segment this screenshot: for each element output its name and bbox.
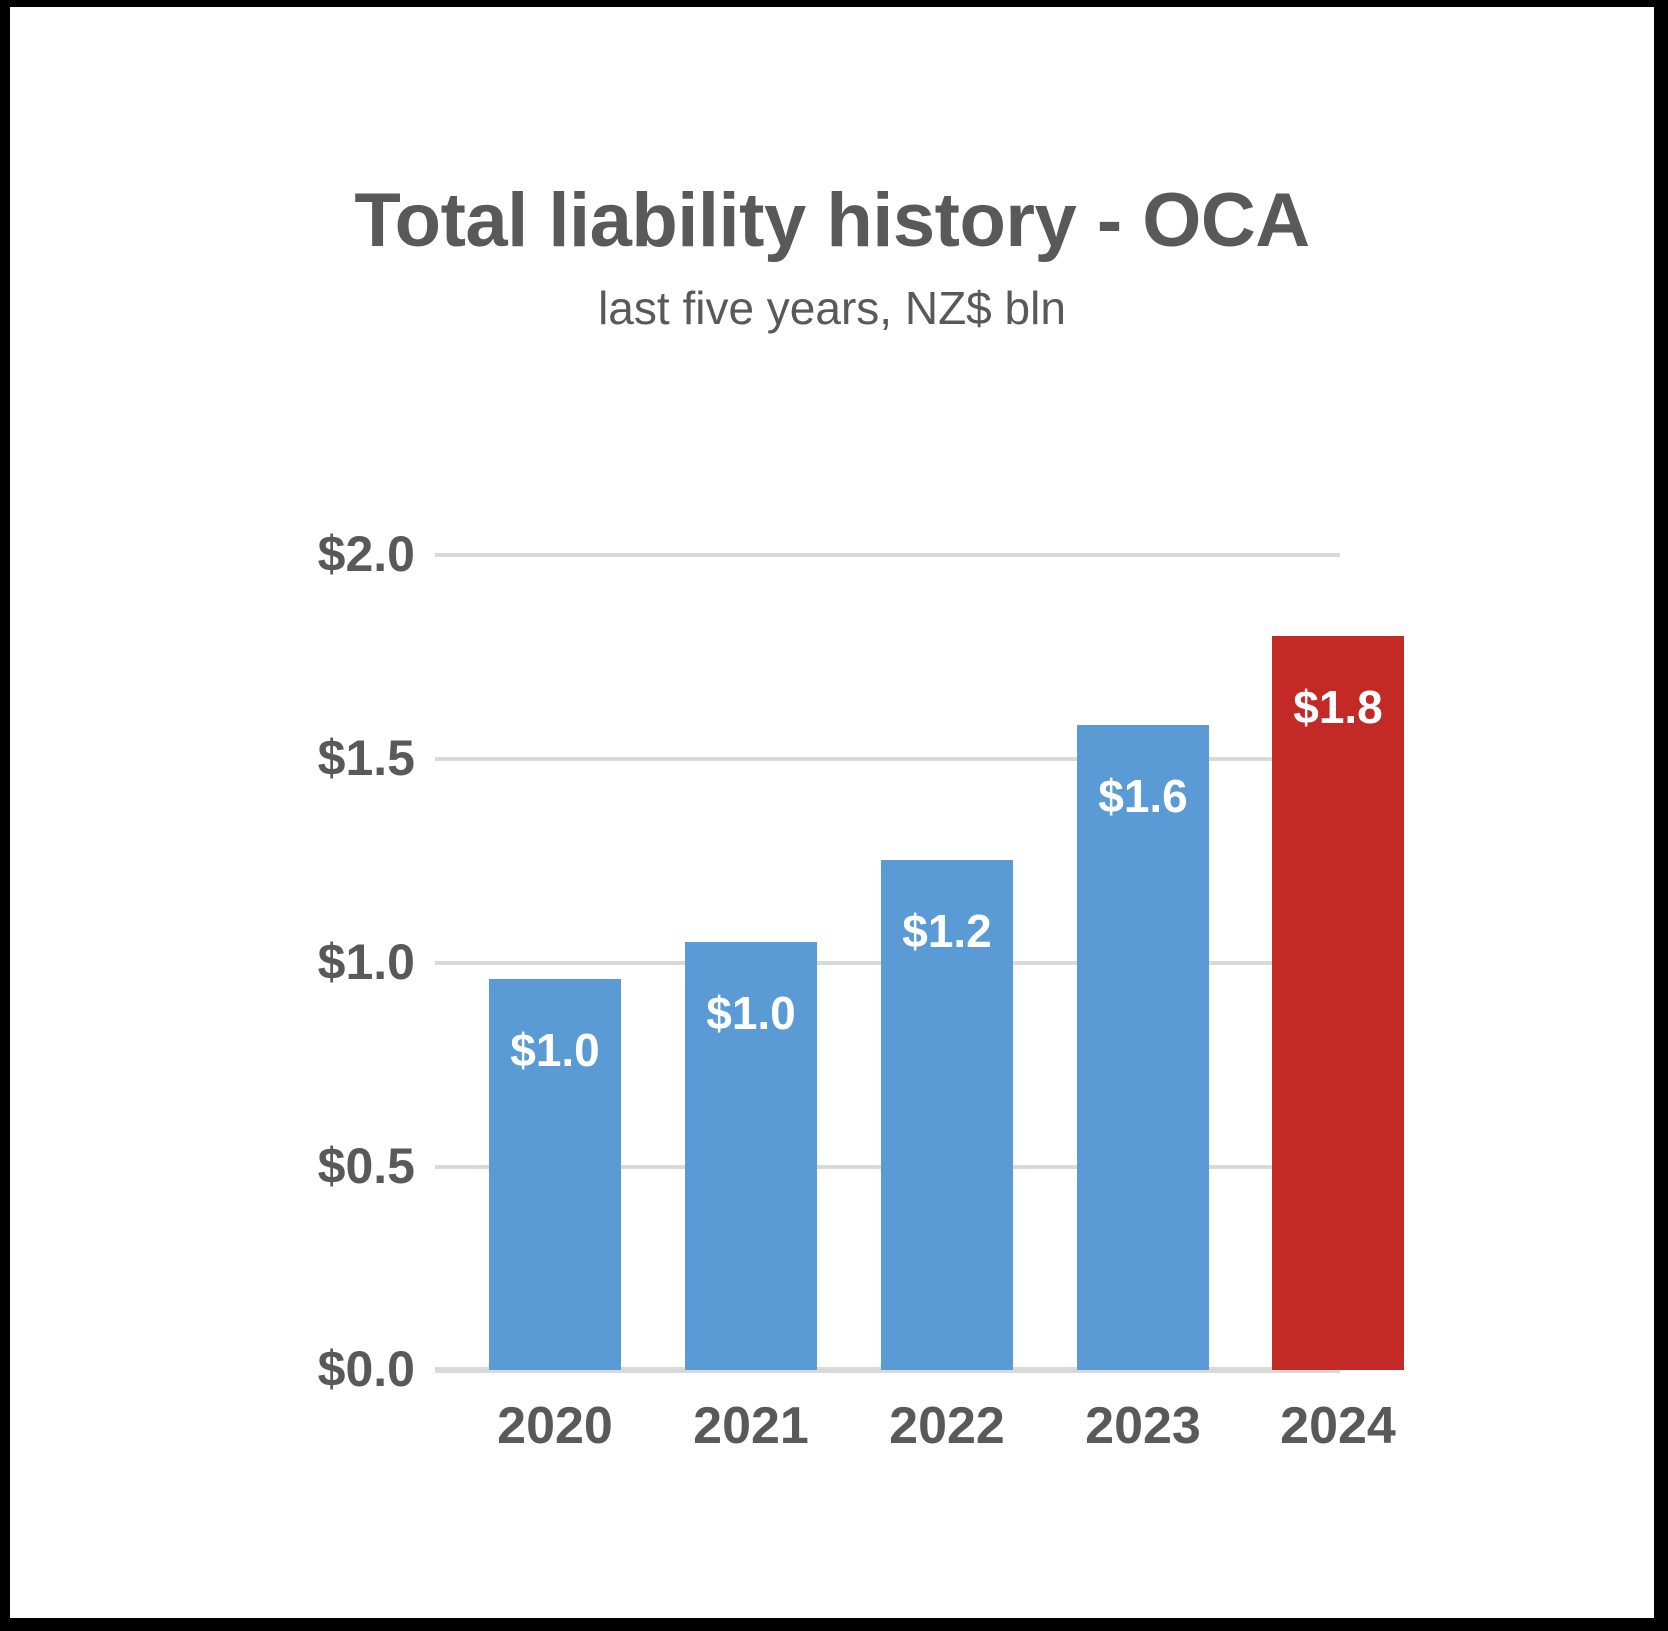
bar-2021[interactable]: $1.0 <box>685 942 817 1370</box>
bars-layer: $1.0 $1.0 $1.2 $1.6 $1.8 <box>10 7 1654 1370</box>
bar-value-label: $1.0 <box>685 990 817 1036</box>
x-tick-label-2021: 2021 <box>685 1400 817 1452</box>
bar-value-label: $1.0 <box>489 1027 621 1073</box>
slide-canvas: Total liability history - OCA last five … <box>10 7 1654 1618</box>
x-tick-label-2020: 2020 <box>489 1400 621 1452</box>
x-tick-label-2024: 2024 <box>1272 1400 1404 1452</box>
x-tick-label-2022: 2022 <box>881 1400 1013 1452</box>
bar-2024[interactable]: $1.8 <box>1272 636 1404 1370</box>
bar-value-label: $1.2 <box>881 908 1013 954</box>
bar-value-label: $1.6 <box>1077 773 1209 819</box>
bar-2023[interactable]: $1.6 <box>1077 725 1209 1370</box>
bar-2020[interactable]: $1.0 <box>489 979 621 1370</box>
plot-area: $2.0 $1.5 $1.0 $0.5 $0.0 $1.0 $1.0 $1.2 … <box>10 7 1654 1618</box>
x-tick-label-2023: 2023 <box>1077 1400 1209 1452</box>
bar-2022[interactable]: $1.2 <box>881 860 1013 1370</box>
bar-value-label: $1.8 <box>1272 684 1404 730</box>
